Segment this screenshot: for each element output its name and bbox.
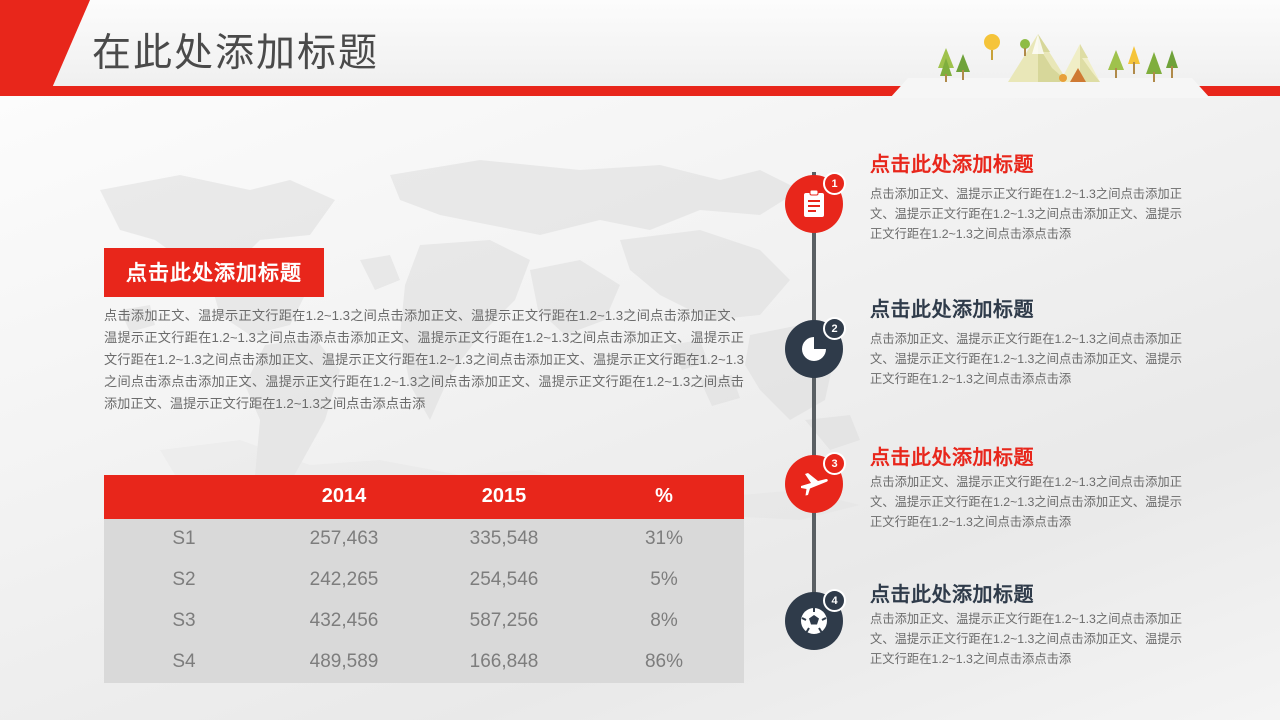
table-cell-2015: 587,256	[424, 601, 584, 642]
timeline-marker-1[interactable]: 1	[785, 175, 843, 233]
page-title: 在此处添加标题	[92, 22, 379, 78]
table-cell-label: S4	[104, 642, 264, 683]
airplane-icon	[799, 470, 829, 498]
table-row: S3 432,456 587,256 8%	[104, 601, 744, 642]
left-section-body: 点击添加正文、温提示正文行距在1.2~1.3之间点击添加正文、温提示正文行距在1…	[104, 305, 744, 415]
data-table: 2014 2015 % S1 257,463 335,548 31% S2 24…	[104, 475, 744, 683]
timeline-text-1: 点击添加正文、温提示正文行距在1.2~1.3之间点击添加正文、温提示正文行距在1…	[870, 184, 1182, 244]
timeline-text-4: 点击添加正文、温提示正文行距在1.2~1.3之间点击添加正文、温提示正文行距在1…	[870, 609, 1182, 669]
timeline-title-2: 点击此处添加标题	[870, 293, 1034, 322]
table-header-cell-3: %	[584, 475, 744, 519]
table-cell-label: S3	[104, 601, 264, 642]
clipboard-icon	[801, 190, 827, 218]
soccer-ball-icon	[799, 606, 829, 636]
table-cell-percent: 8%	[584, 601, 744, 642]
left-section-title: 点击此处添加标题	[104, 248, 324, 297]
slide-header: 在此处添加标题	[0, 0, 1280, 96]
timeline-title-3: 点击此处添加标题	[870, 441, 1034, 470]
timeline-marker-3[interactable]: 3	[785, 455, 843, 513]
timeline-text-3: 点击添加正文、温提示正文行距在1.2~1.3之间点击添加正文、温提示正文行距在1…	[870, 472, 1182, 532]
table-row: S2 242,265 254,546 5%	[104, 560, 744, 601]
pie-chart-icon	[800, 335, 828, 363]
timeline-text-2: 点击添加正文、温提示正文行距在1.2~1.3之间点击添加正文、温提示正文行距在1…	[870, 329, 1182, 389]
timeline-badge-3: 3	[823, 452, 846, 475]
timeline-marker-4[interactable]: 4	[785, 592, 843, 650]
table-header-row: 2014 2015 %	[104, 475, 744, 519]
table-cell-2014: 257,463	[264, 519, 424, 560]
table-row: S4 489,589 166,848 86%	[104, 642, 744, 683]
timeline-badge-1: 1	[823, 172, 846, 195]
timeline-badge-2: 2	[823, 317, 846, 340]
table-cell-2014: 242,265	[264, 560, 424, 601]
timeline-marker-2[interactable]: 2	[785, 320, 843, 378]
table-cell-label: S1	[104, 519, 264, 560]
table-cell-label: S2	[104, 560, 264, 601]
table-header-cell-1: 2014	[264, 475, 424, 519]
table-cell-2014: 432,456	[264, 601, 424, 642]
table-cell-percent: 5%	[584, 560, 744, 601]
timeline-vertical-line	[812, 172, 816, 622]
table-cell-2015: 335,548	[424, 519, 584, 560]
table-cell-2015: 254,546	[424, 560, 584, 601]
table-cell-percent: 31%	[584, 519, 744, 560]
table-header-cell-2: 2015	[424, 475, 584, 519]
table-header-cell-0	[104, 475, 264, 519]
slide: 在此处添加标题	[0, 0, 1280, 720]
decorative-forest-scene-icon	[920, 24, 1190, 88]
table-cell-percent: 86%	[584, 642, 744, 683]
timeline-title-1: 点击此处添加标题	[870, 148, 1034, 177]
timeline-badge-4: 4	[823, 589, 846, 612]
table-cell-2015: 166,848	[424, 642, 584, 683]
table-cell-2014: 489,589	[264, 642, 424, 683]
timeline-title-4: 点击此处添加标题	[870, 578, 1034, 607]
table-row: S1 257,463 335,548 31%	[104, 519, 744, 560]
